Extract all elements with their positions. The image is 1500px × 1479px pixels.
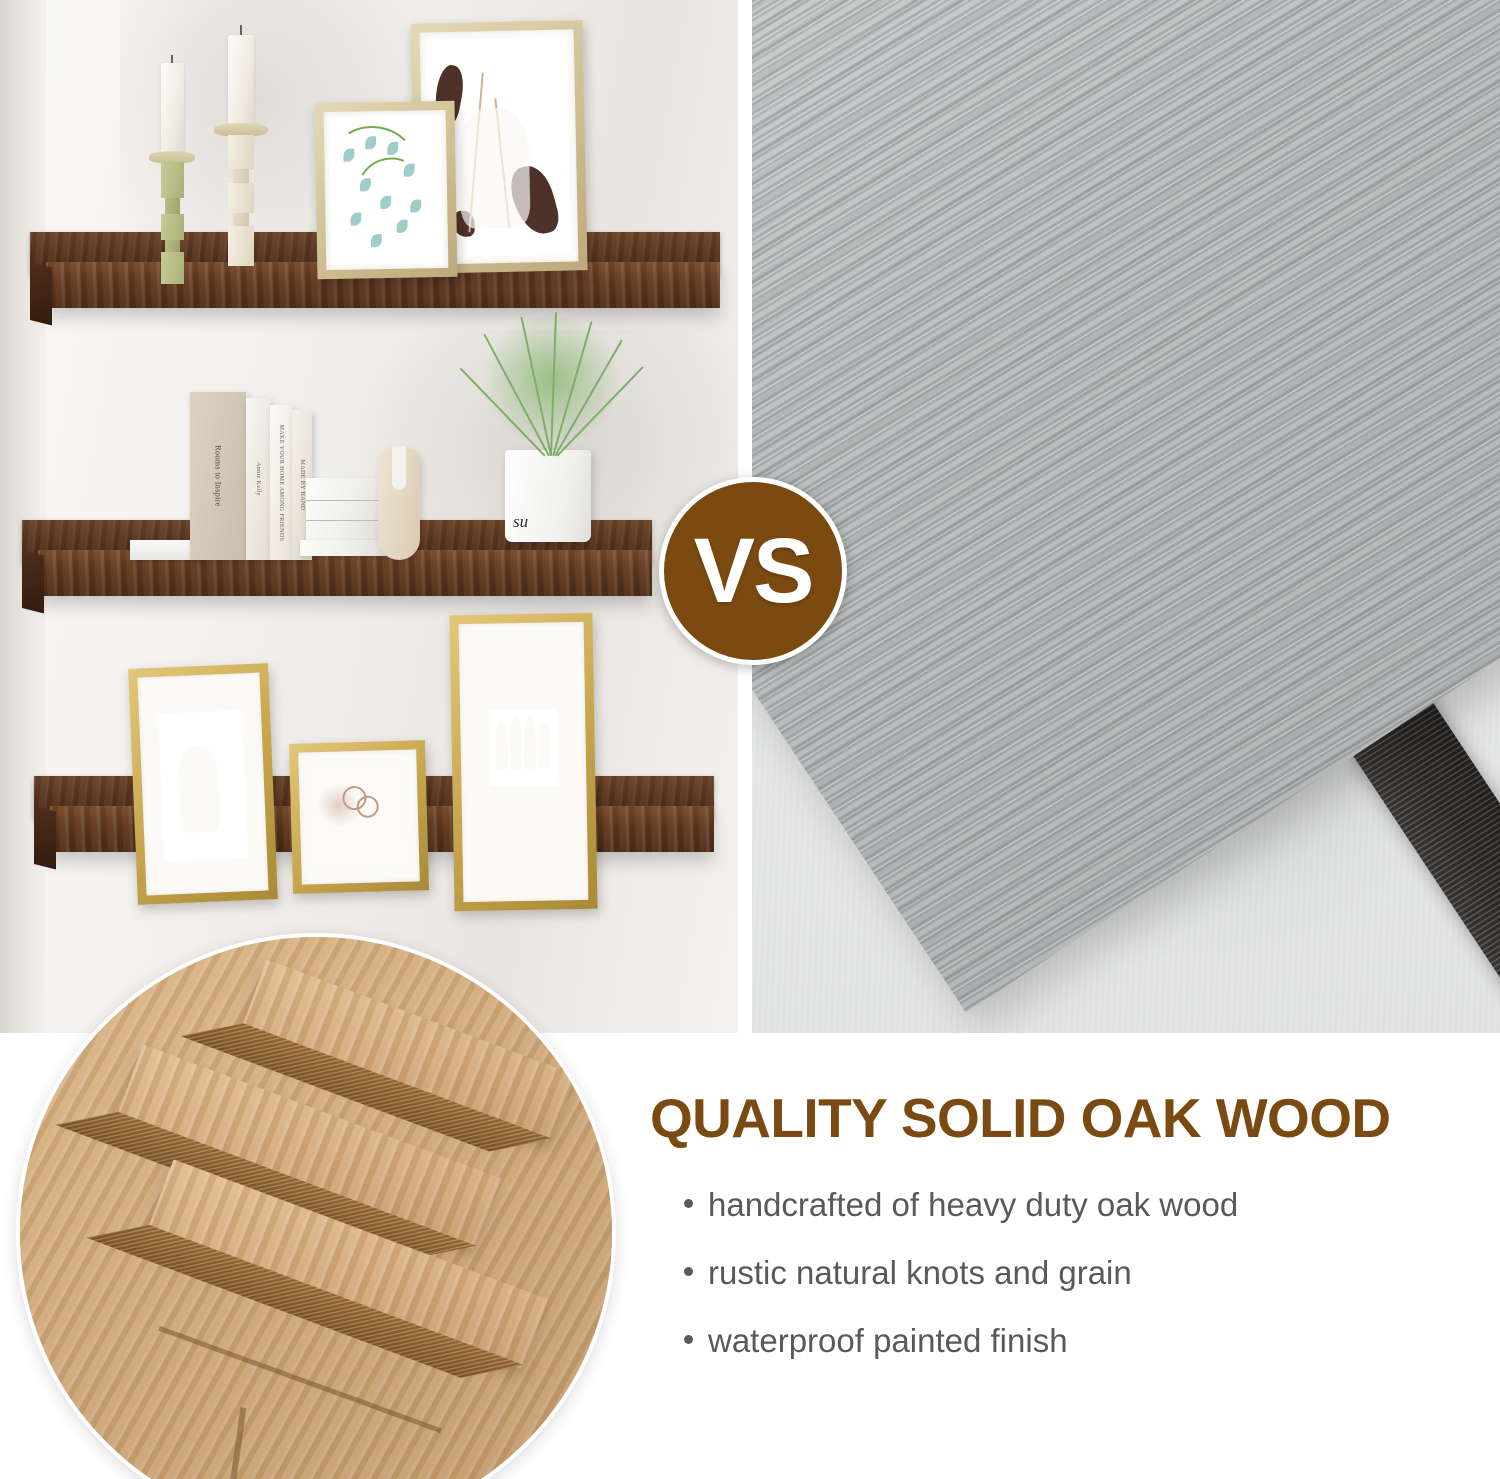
shelf-end-cap xyxy=(30,262,52,325)
ivy-leaf xyxy=(371,234,382,247)
box-seam xyxy=(306,520,382,521)
candlestick-segment xyxy=(228,226,254,266)
vs-badge: VS xyxy=(659,477,847,665)
book-spine: Rooms to Inspire xyxy=(190,392,246,560)
marketing-copy: QUALITY SOLID OAK WOOD handcrafted of he… xyxy=(650,1090,1495,1390)
bullet-dot xyxy=(684,1267,693,1276)
candlestick-segment xyxy=(233,169,249,183)
solid-oak-planks-closeup xyxy=(16,933,616,1479)
particleboard-photo xyxy=(752,0,1500,1033)
figure-shape xyxy=(458,107,530,228)
styled-shelves-photo: Rooms to Inspire Annie Kelly MAKE YOUR H… xyxy=(0,0,738,1033)
candlestick-segment xyxy=(165,240,180,252)
candlestick-segment xyxy=(228,135,254,169)
feature-text: rustic natural knots and grain xyxy=(708,1254,1132,1292)
vintage-portrait-photo xyxy=(158,710,248,861)
candlestick-segment xyxy=(161,162,184,198)
list-item: waterproof painted finish xyxy=(650,1322,1495,1360)
candlestick-segment xyxy=(165,198,180,214)
page-title: QUALITY SOLID OAK WOOD xyxy=(650,1090,1495,1148)
vase-notch xyxy=(392,446,406,490)
ivy-artwork xyxy=(329,115,444,265)
marble-box xyxy=(306,478,382,540)
bullet-dot xyxy=(684,1335,693,1344)
candlestick-segment xyxy=(233,213,249,226)
candlestick-segment xyxy=(228,183,254,213)
vintage-family-photo xyxy=(489,709,558,786)
book-spine: MAKE YOUR HOME AMONG FRIENDS xyxy=(270,405,292,560)
product-infographic: Rooms to Inspire Annie Kelly MAKE YOUR H… xyxy=(0,0,1500,1479)
list-item: rustic natural knots and grain xyxy=(650,1254,1495,1292)
candle-wax xyxy=(161,63,184,155)
feature-list: handcrafted of heavy duty oak wood rusti… xyxy=(650,1186,1495,1360)
candlestick-segment xyxy=(161,214,184,240)
marble-stand xyxy=(300,540,386,556)
white-plant-pot: su xyxy=(505,450,591,542)
gold-frame-ring-sketch xyxy=(289,740,429,894)
ivy-leaf xyxy=(397,220,408,233)
green-block-candlestick xyxy=(150,55,194,265)
cream-u-vase xyxy=(378,448,420,560)
figure-shape xyxy=(177,745,221,833)
cream-framed-ivy-art xyxy=(314,101,457,279)
ring-sketch-artwork xyxy=(312,767,407,868)
bullet-dot xyxy=(684,1199,693,1208)
figure-shape xyxy=(509,716,522,770)
book-title: MADE BY HAND xyxy=(299,460,305,511)
book-title: MAKE YOUR HOME AMONG FRIENDS xyxy=(278,424,284,541)
figure-shape xyxy=(537,722,550,768)
ivy-leaf xyxy=(350,212,361,225)
candlestick-segment xyxy=(161,252,184,284)
feature-text: waterproof painted finish xyxy=(708,1322,1068,1360)
book-spine: Annie Kelly xyxy=(246,398,270,560)
list-item: handcrafted of heavy duty oak wood xyxy=(650,1186,1495,1224)
sketch-ring xyxy=(356,795,379,818)
pot-script-text: su xyxy=(513,512,528,532)
cream-block-candlestick xyxy=(218,25,264,265)
book-title: Rooms to Inspire xyxy=(214,445,223,507)
feature-text: handcrafted of heavy duty oak wood xyxy=(708,1186,1238,1224)
figure-shape xyxy=(523,718,536,770)
candle-wax xyxy=(228,35,254,127)
faux-plant-foliage xyxy=(470,312,630,462)
vs-badge-label: VS xyxy=(694,525,813,617)
shelf-end-cap xyxy=(22,550,44,613)
gold-frame-family-photo xyxy=(449,613,597,911)
shelf-end-cap xyxy=(34,806,56,869)
ivy-leaf xyxy=(410,199,421,212)
gold-frame-vintage-portrait xyxy=(128,663,278,905)
figure-shape xyxy=(495,720,508,770)
box-seam xyxy=(306,500,382,501)
book-author: Annie Kelly xyxy=(255,462,261,496)
